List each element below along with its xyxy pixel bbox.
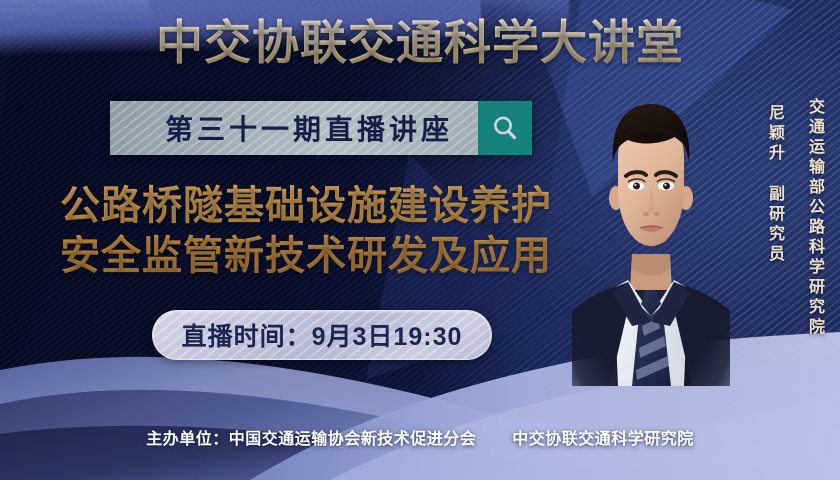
episode-banner: 第三十一期直播讲座 (110, 101, 532, 155)
lecture-headline-line-1: 公路桥隧基础设施建设养护 (26, 182, 586, 232)
broadcast-time-text: 直播时间：9月3日19:30 (182, 317, 463, 353)
broadcast-time-badge: 直播时间：9月3日19:30 (152, 310, 492, 360)
speaker-portrait (572, 86, 730, 386)
search-button[interactable] (478, 101, 532, 155)
speaker-name: 尼颖升 副研究员 (766, 104, 782, 265)
live-stream-poster: 中交协联交通科学大讲堂 第三十一期直播讲座 公路桥隧基础设施建设养护 安全监管新… (0, 0, 840, 480)
lecture-headline-line-2: 安全监管新技术研发及应用 (26, 232, 586, 282)
search-icon (490, 113, 520, 143)
page-title: 中交协联交通科学大讲堂 (0, 18, 840, 69)
speaker-affiliation: 交通运输部公路科学研究院 (806, 98, 822, 338)
lecture-headline: 公路桥隧基础设施建设养护 安全监管新技术研发及应用 (26, 182, 586, 281)
footer-co-organizer: 中交协联交通科学研究院 (512, 431, 694, 448)
footer-organizer: 主办单位：中国交通运输协会新技术促进分会 (146, 431, 476, 448)
episode-label: 第三十一期直播讲座 (135, 108, 453, 148)
footer-organizers: 主办单位：中国交通运输协会新技术促进分会 中交协联交通科学研究院 (0, 425, 840, 449)
episode-banner-body: 第三十一期直播讲座 (110, 101, 478, 155)
